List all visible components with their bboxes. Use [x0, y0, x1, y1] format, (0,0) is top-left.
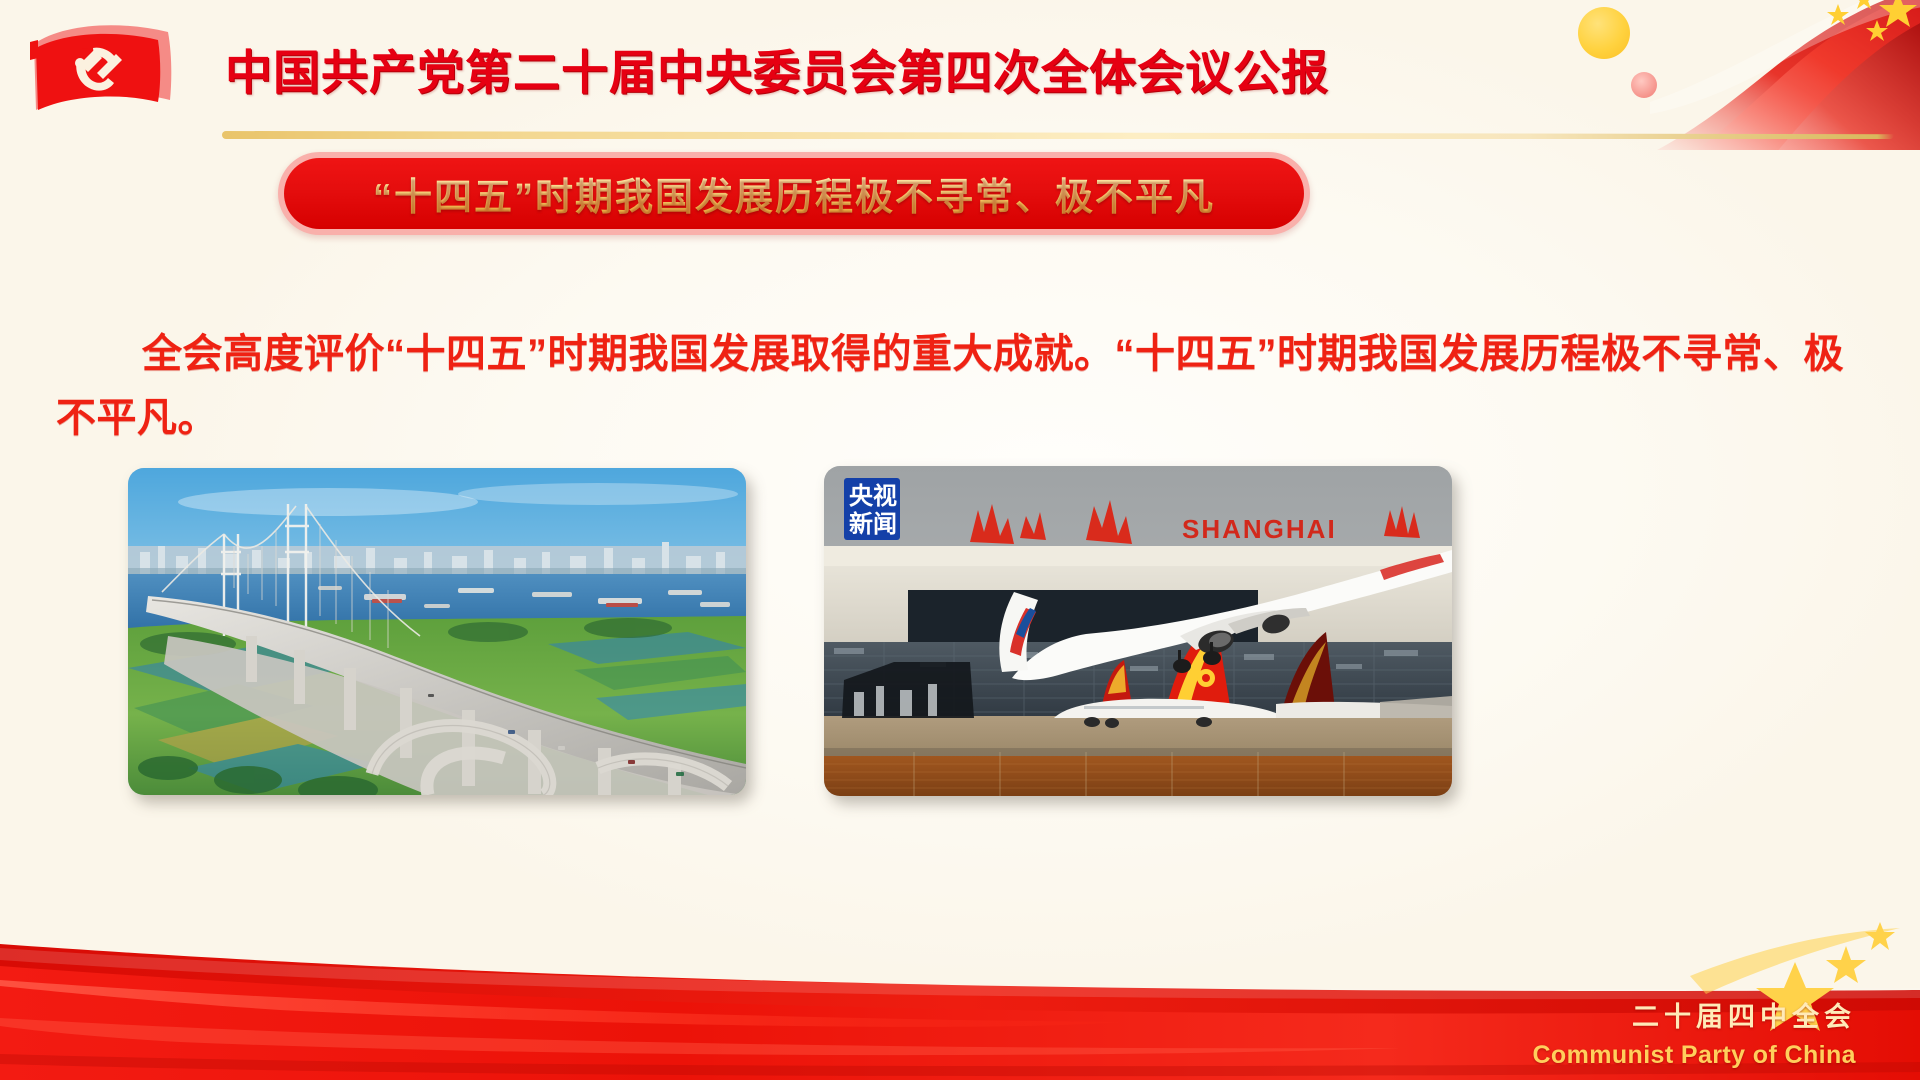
gold-circle-decoration — [1578, 7, 1630, 59]
suspension-bridge-photo — [128, 468, 746, 795]
footer-star-tiny — [1865, 922, 1895, 950]
svg-text:新闻: 新闻 — [849, 510, 897, 538]
pink-circle-decoration — [1631, 72, 1657, 98]
section-banner-inner: “十四五”时期我国发展历程极不寻常、极不平凡 — [284, 158, 1304, 229]
footer-star-small — [1826, 946, 1866, 983]
section-banner-label: “十四五”时期我国发展历程极不寻常、极不平凡 — [373, 166, 1215, 221]
svg-text:央视: 央视 — [849, 482, 897, 510]
section-banner: “十四五”时期我国发展历程极不寻常、极不平凡 — [278, 152, 1310, 235]
slide-root: 中国共产党第二十届中央委员会第四次全体会议公报 “十四五”时期我国发展历程极不寻… — [0, 0, 1920, 1080]
footer-title-cn: 二十届四中全会 — [1632, 995, 1856, 1034]
page-title: 中国共产党第二十届中央委员会第四次全体会议公报 — [225, 34, 1329, 103]
svg-text:SHANGHAI: SHANGHAI — [1182, 514, 1337, 544]
footer-title-en: Communist Party of China — [1532, 1041, 1856, 1070]
cctv-news-watermark: 央视 新闻 — [844, 478, 900, 540]
national-flag-ribbon-decoration — [1500, 0, 1920, 150]
party-flag-icon — [22, 18, 197, 113]
shanghai-airport-photo: SHANGHAI 央视 新闻 — [824, 466, 1452, 796]
body-paragraph: 全会高度评价“十四五”时期我国发展取得的重大成就。“十四五”时期我国发展历程极不… — [56, 322, 1868, 450]
